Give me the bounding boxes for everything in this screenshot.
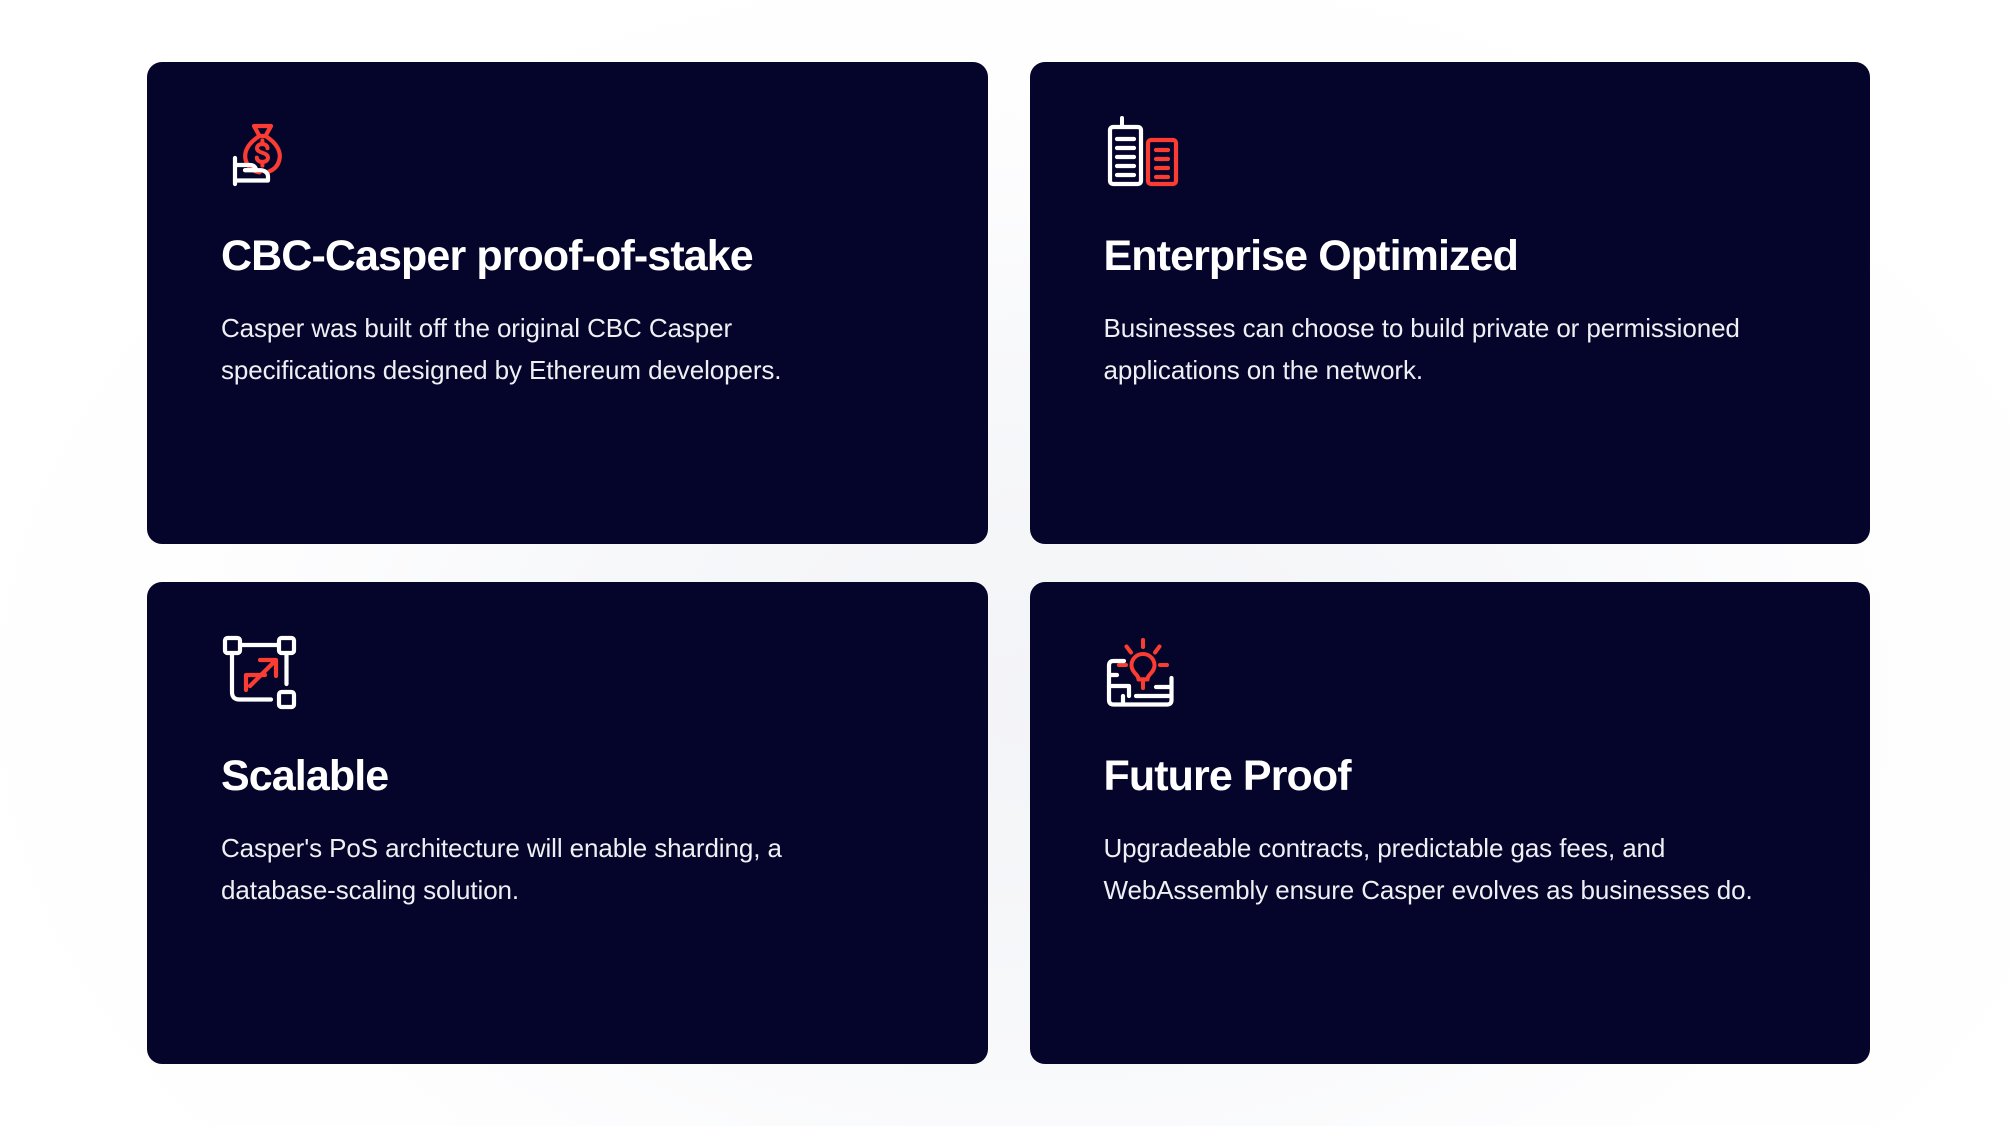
feature-card-grid: CBC-Casper proof-of-stake Casper was bui… (147, 62, 1870, 1064)
feature-card-enterprise-optimized[interactable]: Enterprise Optimized Businesses can choo… (1030, 62, 1871, 544)
feature-card-description: Casper's PoS architecture will enable sh… (221, 827, 861, 911)
feature-card-description: Upgradeable contracts, predictable gas f… (1104, 827, 1784, 911)
feature-card-description: Casper was built off the original CBC Ca… (221, 307, 861, 391)
feature-card-title: Future Proof (1104, 752, 1797, 800)
feature-card-title: Enterprise Optimized (1104, 232, 1797, 280)
money-bag-stake-icon (221, 114, 299, 192)
lightbulb-circuit-icon (1104, 634, 1182, 712)
scale-resize-arrow-icon (221, 634, 299, 712)
feature-card-description: Businesses can choose to build private o… (1104, 307, 1784, 391)
office-buildings-icon (1104, 114, 1182, 192)
feature-card-future-proof[interactable]: Future Proof Upgradeable contracts, pred… (1030, 582, 1871, 1064)
feature-card-title: CBC-Casper proof-of-stake (221, 232, 914, 280)
feature-card-scalable[interactable]: Scalable Casper's PoS architecture will … (147, 582, 988, 1064)
feature-card-cbc-casper-proof-of-stake[interactable]: CBC-Casper proof-of-stake Casper was bui… (147, 62, 988, 544)
feature-card-title: Scalable (221, 752, 914, 800)
